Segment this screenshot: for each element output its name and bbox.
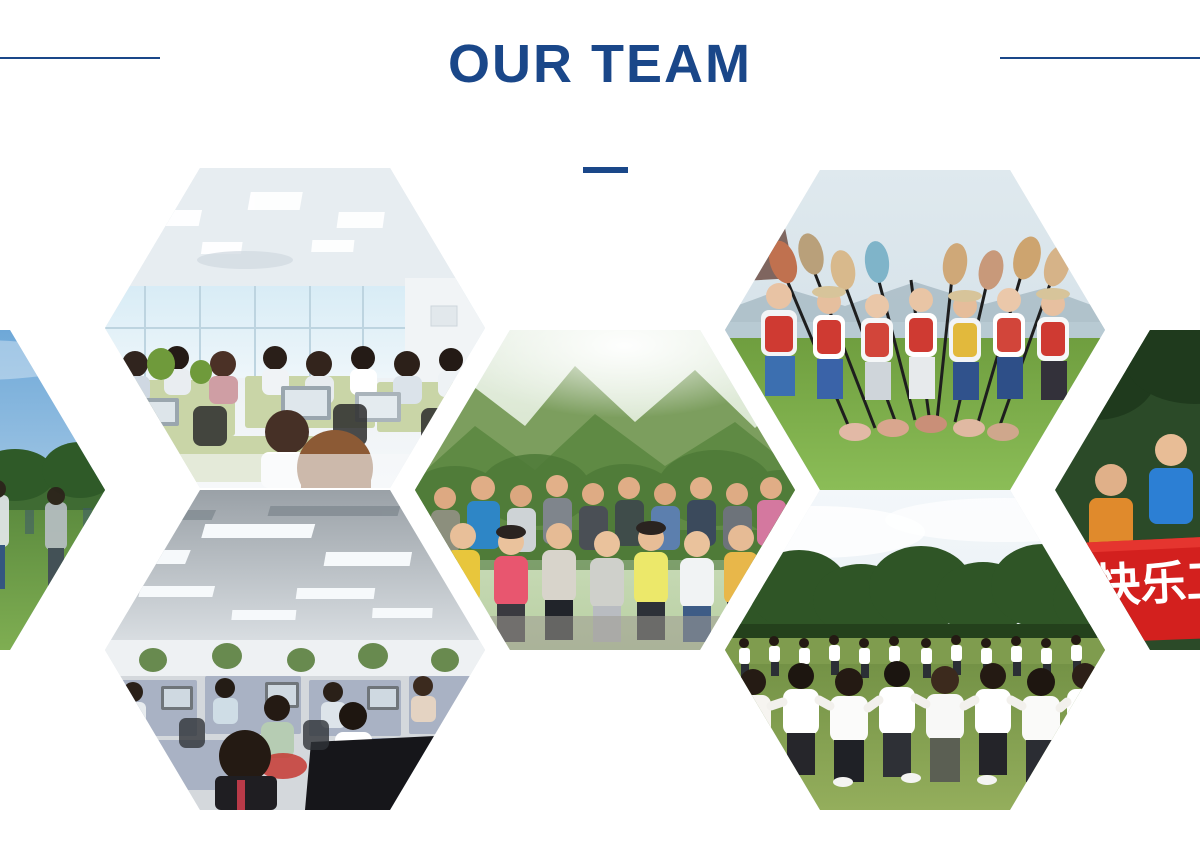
photo-office-open xyxy=(105,168,485,488)
hex-photo-circle-game[interactable] xyxy=(725,490,1105,810)
photo-office-cubicles xyxy=(105,490,485,810)
photo-banner: 快乐工 xyxy=(1055,330,1200,650)
hex-photo-banner-right[interactable]: 快乐工 xyxy=(1055,330,1200,650)
photo-hike-group xyxy=(415,330,795,650)
hex-photo-rafting[interactable] xyxy=(725,170,1105,490)
hex-photo-lawn-left[interactable] xyxy=(0,330,105,650)
hex-photo-hike-group[interactable] xyxy=(415,330,795,650)
banner-text: 快乐工 xyxy=(1093,553,1200,613)
team-photo-gallery: 快乐工 xyxy=(0,0,1200,862)
photo-lawn xyxy=(0,330,105,650)
hex-photo-office-cubicles[interactable] xyxy=(105,490,485,810)
photo-circle-game xyxy=(725,490,1105,810)
hex-photo-office-open[interactable] xyxy=(105,168,485,488)
photo-rafting xyxy=(725,170,1105,490)
